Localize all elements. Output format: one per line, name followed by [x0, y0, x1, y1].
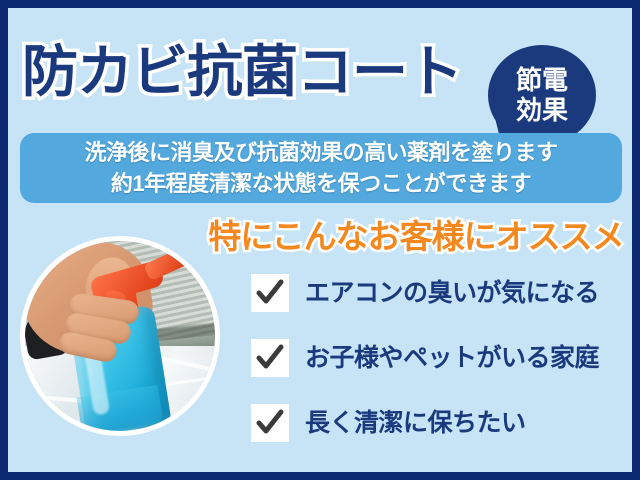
list-item-label: エアコンの臭いが気になる [305, 274, 599, 312]
check-icon [251, 339, 289, 377]
subtitle-box: 洗浄後に消臭及び抗菌効果の高い薬剤を塗ります 約1年程度清潔な状態を保つことがで… [20, 133, 622, 203]
badge-line-2: 効果 [516, 95, 568, 125]
promo-banner: 防カビ抗菌コート 節電 効果 洗浄後に消臭及び抗菌効果の高い薬剤を塗ります 約1… [0, 0, 640, 480]
list-item: お子様やペットがいる家庭 [251, 335, 631, 381]
subtitle-line-1: 洗浄後に消臭及び抗菌効果の高い薬剤を塗ります [84, 137, 557, 168]
list-item: エアコンの臭いが気になる [251, 270, 631, 316]
list-item-label: 長く清潔に保ちたい [305, 404, 526, 442]
title-row: 防カビ抗菌コート 節電 効果 [8, 30, 632, 118]
check-icon [251, 274, 289, 312]
badge-line-1: 節電 [516, 65, 568, 95]
subtitle-line-2: 約1年程度清潔な状態を保つことができます [111, 168, 531, 199]
list-item-label: お子様やペットがいる家庭 [305, 339, 599, 377]
recommend-heading: 特にこんなお客様にオススメ [204, 216, 628, 258]
recommend-list: エアコンの臭いが気になる お子様やペットがいる家庭 長く清潔に保ちたい [251, 270, 631, 465]
list-item: 長く清潔に保ちたい [251, 400, 631, 446]
page-title: 防カビ抗菌コート [22, 30, 462, 114]
product-photo [20, 236, 220, 436]
product-photo-image [25, 241, 215, 431]
energy-saving-badge: 節電 効果 [488, 45, 596, 145]
check-icon [251, 404, 289, 442]
